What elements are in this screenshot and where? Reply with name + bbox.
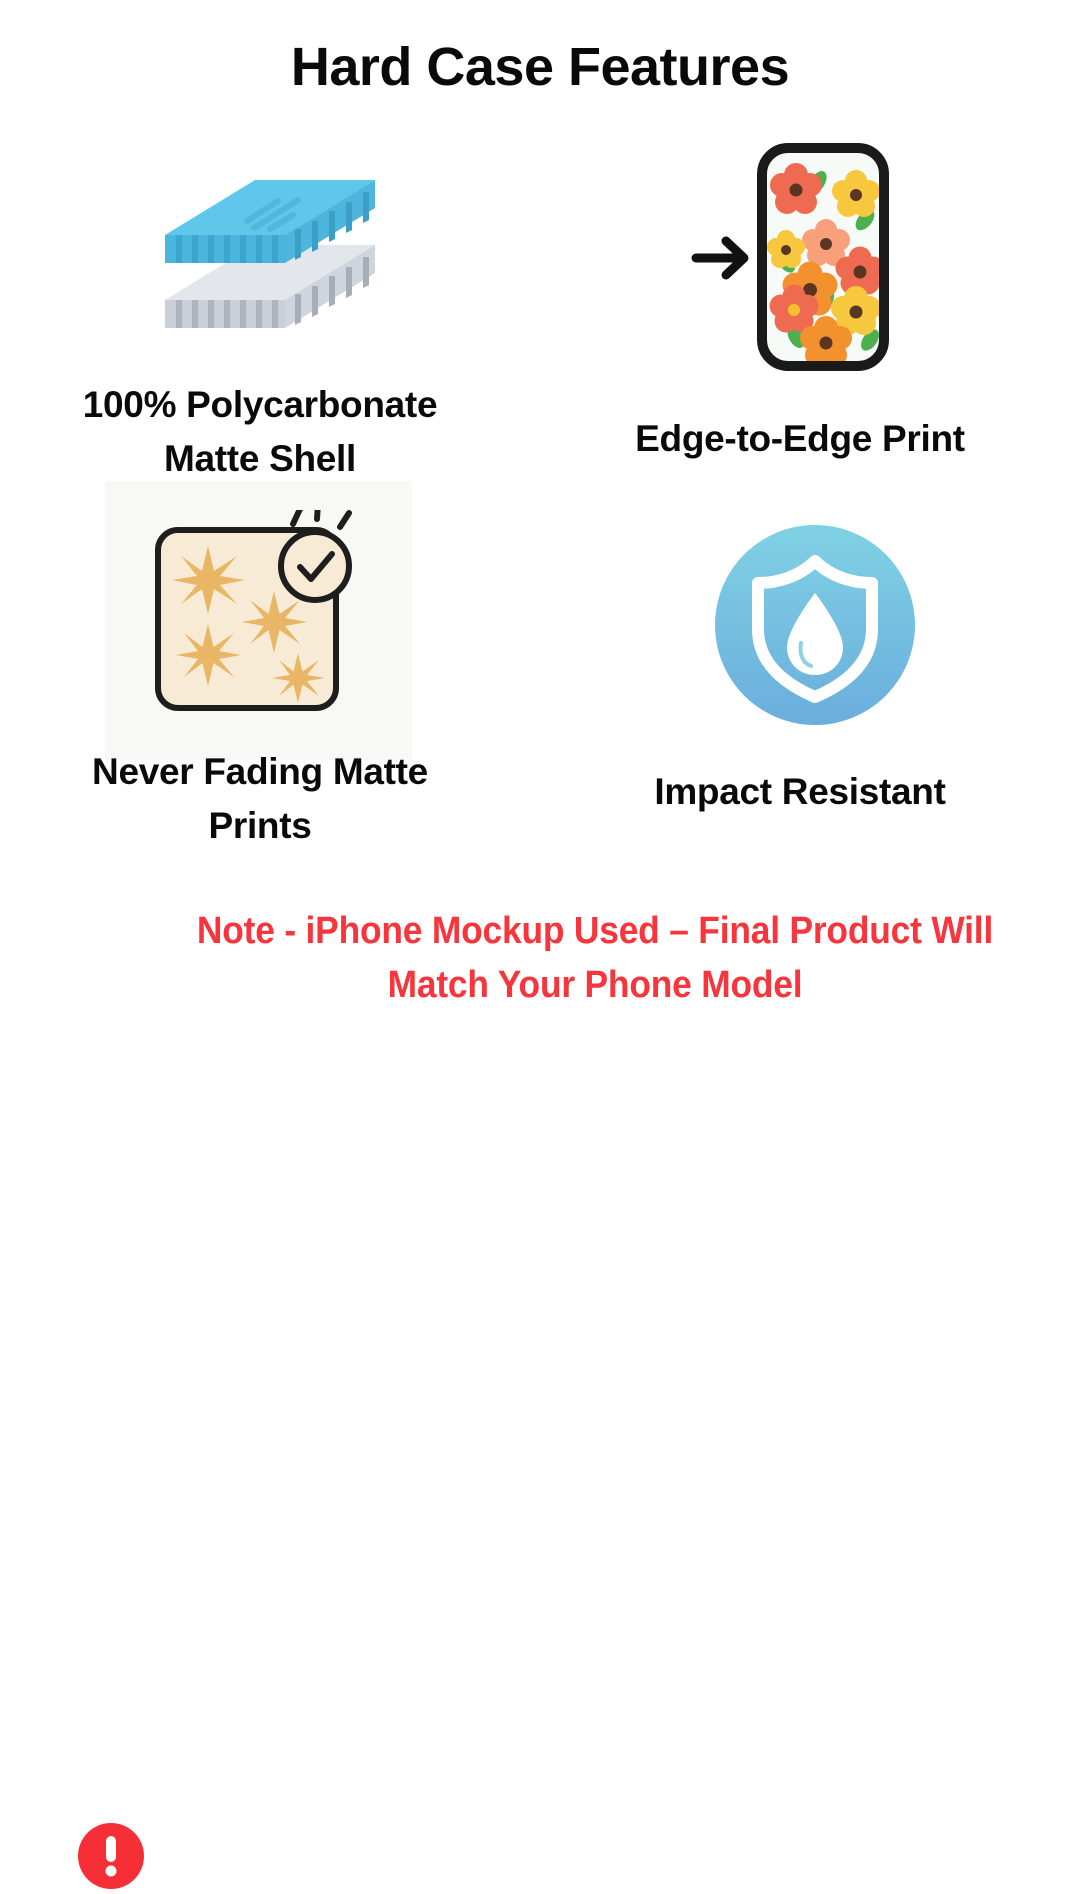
feature-label-line-1: Edge-to-Edge Print xyxy=(635,418,965,459)
feature-label-line-1: 100% Polycarbonate xyxy=(83,384,437,425)
note-line-2: Match Your Phone Model xyxy=(181,959,1009,1013)
feature-label-edge-to-edge: Edge-to-Edge Print xyxy=(560,412,1040,466)
feature-label-line-2: Prints xyxy=(208,805,311,846)
sparkle-rays xyxy=(293,510,349,527)
exclamation-circle-icon xyxy=(78,1823,144,1889)
arrow-right-icon xyxy=(696,241,744,275)
phone-case xyxy=(762,148,885,367)
feature-label-polycarbonate: 100% Polycarbonate Matte Shell xyxy=(20,378,500,485)
check-circle-badge xyxy=(281,510,349,600)
feature-label-line-1: Impact Resistant xyxy=(654,771,945,812)
floral-phone-case-icon xyxy=(690,140,920,375)
feature-label-impact-resistant: Impact Resistant xyxy=(560,765,1040,819)
feature-graphic-page: Hard Case Features xyxy=(0,0,1080,1080)
page-title: Hard Case Features xyxy=(0,36,1080,98)
note-text: Note - iPhone Mockup Used – Final Produc… xyxy=(181,905,1009,1013)
feature-label-line-1: Never Fading Matte xyxy=(92,751,428,792)
feature-label-line-2: Matte Shell xyxy=(164,438,356,479)
sparkle-check-icon xyxy=(150,510,375,725)
note-line-1: Note - iPhone Mockup Used – Final Produc… xyxy=(181,905,1009,959)
layered-slabs-icon xyxy=(160,175,380,350)
note-banner: Note - iPhone Mockup Used – Final Produc… xyxy=(0,905,1080,1025)
shield-droplet-icon xyxy=(715,525,915,725)
feature-label-never-fading: Never Fading Matte Prints xyxy=(20,745,500,852)
